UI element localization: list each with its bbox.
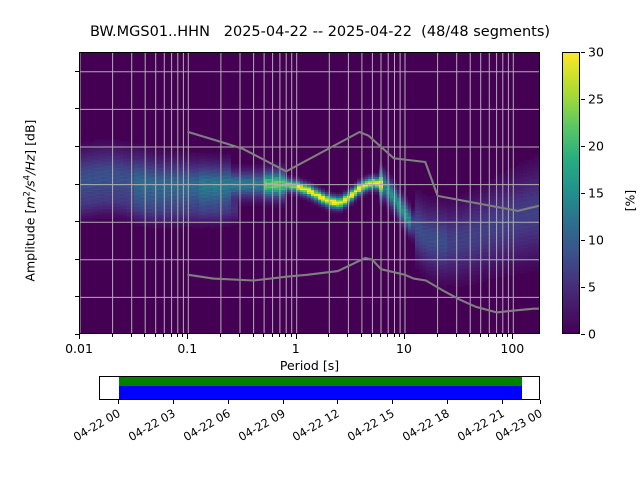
colorbar-tick-label: 10 — [588, 233, 604, 248]
x-minor-tick-mark — [291, 334, 292, 337]
y-tick-mark — [75, 259, 79, 260]
timeline-tick-label: 04-22 00 — [71, 406, 123, 444]
y-tick-mark — [75, 184, 79, 185]
x-minor-tick-mark — [155, 334, 156, 337]
colorbar-tick-mark — [581, 240, 585, 241]
x-tick-mark — [512, 334, 513, 339]
y-tick-mark — [75, 108, 79, 109]
timeline-tick-label: 04-22 03 — [126, 406, 178, 444]
x-minor-tick-mark — [394, 334, 395, 337]
x-tick-mark — [296, 334, 297, 339]
x-minor-tick-mark — [171, 334, 172, 337]
y-tick-mark — [75, 71, 79, 72]
colorbar-tick-mark — [581, 52, 585, 53]
x-minor-tick-mark — [361, 334, 362, 337]
timeline-tick-label: 04-22 12 — [290, 406, 342, 444]
timeline-coverage-axes — [99, 376, 540, 400]
x-minor-tick-mark — [399, 334, 400, 337]
page-title: BW.MGS01..HHN 2025-04-22 -- 2025-04-22 (… — [0, 24, 640, 40]
timeline-tick-mark — [337, 400, 338, 404]
colorbar-tick-mark — [581, 334, 585, 335]
colorbar-label: [%] — [623, 171, 638, 231]
x-minor-tick-mark — [328, 334, 329, 337]
colorbar-tick-label: 30 — [588, 45, 604, 60]
x-minor-tick-mark — [380, 334, 381, 337]
timeline-tick-mark — [392, 400, 393, 404]
x-minor-tick-mark — [502, 334, 503, 337]
colorbar-tick-label: 5 — [588, 280, 596, 295]
timeline-bar-green — [119, 377, 522, 386]
x-minor-tick-mark — [263, 334, 264, 337]
timeline-tick-label: 04-22 06 — [181, 406, 233, 444]
colorbar-tick-mark — [581, 146, 585, 147]
x-minor-tick-mark — [182, 334, 183, 337]
timeline-tick-label: 04-22 18 — [400, 406, 452, 444]
x-tick-mark — [79, 334, 80, 339]
noise-model-curves — [80, 53, 540, 334]
x-minor-tick-mark — [163, 334, 164, 337]
x-axis-label: Period [s] — [79, 358, 540, 373]
timeline-tick-label: 04-22 15 — [345, 406, 397, 444]
y-tick-mark — [75, 221, 79, 222]
x-minor-tick-mark — [437, 334, 438, 337]
x-minor-tick-mark — [488, 334, 489, 337]
x-tick-mark — [404, 334, 405, 339]
x-minor-tick-mark — [253, 334, 254, 337]
x-minor-tick-mark — [131, 334, 132, 337]
x-minor-tick-mark — [480, 334, 481, 337]
x-minor-tick-mark — [496, 334, 497, 337]
x-tick-mark — [187, 334, 188, 339]
y-tick-mark — [75, 296, 79, 297]
x-minor-tick-mark — [112, 334, 113, 337]
colorbar — [562, 52, 580, 334]
ppsd-figure: BW.MGS01..HHN 2025-04-22 -- 2025-04-22 (… — [0, 0, 640, 480]
x-minor-tick-mark — [144, 334, 145, 337]
y-axis-label: Amplitude [m2/s4/Hz] [dB] — [22, 71, 37, 331]
colorbar-tick-mark — [581, 193, 585, 194]
x-minor-tick-mark — [469, 334, 470, 337]
x-minor-tick-mark — [371, 334, 372, 337]
y-tick-mark — [75, 146, 79, 147]
colorbar-tick-label: 20 — [588, 139, 604, 154]
x-minor-tick-mark — [285, 334, 286, 337]
colorbar-tick-label: 15 — [588, 186, 604, 201]
x-minor-tick-mark — [347, 334, 348, 337]
timeline-tick-mark — [502, 400, 503, 404]
x-minor-tick-mark — [279, 334, 280, 337]
x-minor-tick-mark — [239, 334, 240, 337]
timeline-bar-blue — [119, 386, 522, 399]
x-tick-label: 10 — [396, 341, 412, 356]
timeline-tick-mark — [228, 400, 229, 404]
x-tick-label: 100 — [500, 341, 524, 356]
timeline-tick-mark — [173, 400, 174, 404]
ppsd-plot-area — [79, 52, 540, 334]
timeline-tick-mark — [447, 400, 448, 404]
timeline-tick-mark — [540, 400, 541, 404]
x-minor-tick-mark — [507, 334, 508, 337]
timeline-tick-mark — [118, 400, 119, 404]
x-minor-tick-mark — [220, 334, 221, 337]
colorbar-tick-label: 25 — [588, 92, 604, 107]
colorbar-tick-label: 0 — [588, 327, 596, 342]
x-tick-label: 0.01 — [65, 341, 93, 356]
x-minor-tick-mark — [272, 334, 273, 337]
timeline-tick-label: 04-22 09 — [236, 406, 288, 444]
colorbar-tick-mark — [581, 99, 585, 100]
x-tick-label: 0.1 — [177, 341, 197, 356]
timeline-tick-mark — [283, 400, 284, 404]
colorbar-tick-mark — [581, 287, 585, 288]
x-minor-tick-mark — [177, 334, 178, 337]
x-minor-tick-mark — [387, 334, 388, 337]
x-tick-label: 1 — [292, 341, 300, 356]
x-minor-tick-mark — [456, 334, 457, 337]
